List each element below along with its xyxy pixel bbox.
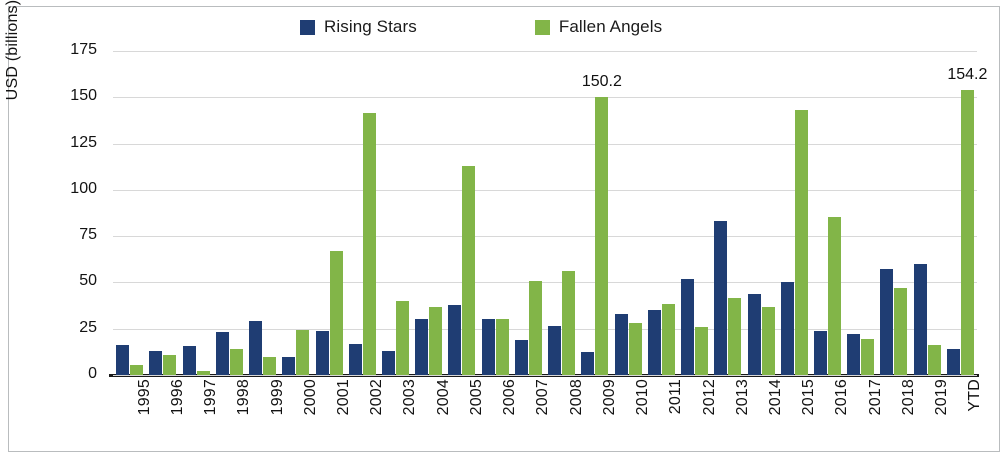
gridline-0 bbox=[113, 375, 977, 376]
bar-rising-stars-2006[interactable] bbox=[482, 319, 495, 375]
y-axis-title: USD (billions) bbox=[4, 0, 22, 140]
x-tick-label-1998: 1998 bbox=[235, 379, 253, 415]
bar-rising-stars-1995[interactable] bbox=[116, 345, 129, 375]
x-tick-label-1996: 1996 bbox=[169, 379, 187, 415]
bar-rising-stars-2012[interactable] bbox=[681, 279, 694, 375]
bar-group-1996 bbox=[149, 51, 176, 375]
bar-fallen-angels-2008[interactable] bbox=[562, 271, 575, 375]
bar-fallen-angels-1996[interactable] bbox=[163, 355, 176, 375]
bar-rising-stars-1997[interactable] bbox=[183, 346, 196, 375]
bar-group-1999 bbox=[249, 51, 276, 375]
x-tick-label-2016: 2016 bbox=[833, 379, 851, 415]
x-tick-label-2018: 2018 bbox=[900, 379, 918, 415]
x-axis-labels: 1995199619971998199920002001200220032004… bbox=[113, 379, 977, 449]
bar-rising-stars-2019[interactable] bbox=[914, 264, 927, 375]
bar-rising-stars-2017[interactable] bbox=[847, 334, 860, 375]
legend-item-rising-stars: Rising Stars bbox=[300, 17, 417, 37]
plot-area: 0255075100125150175150.2154.2 bbox=[113, 51, 977, 375]
bar-group-1995 bbox=[116, 51, 143, 375]
bar-fallen-angels-2013[interactable] bbox=[728, 298, 741, 375]
bar-fallen-angels-2002[interactable] bbox=[363, 113, 376, 375]
bar-group-2001 bbox=[316, 51, 343, 375]
x-tick-label-2003: 2003 bbox=[401, 379, 419, 415]
x-tick-label-2002: 2002 bbox=[368, 379, 386, 415]
y-tick-label-175: 175 bbox=[53, 41, 97, 59]
bar-rising-stars-2016[interactable] bbox=[814, 331, 827, 375]
x-tick-label-2007: 2007 bbox=[534, 379, 552, 415]
bar-fallen-angels-2010[interactable] bbox=[629, 323, 642, 375]
bar-rising-stars-2000[interactable] bbox=[282, 357, 295, 375]
x-tick-label-2017: 2017 bbox=[867, 379, 885, 415]
y-tick-label-75: 75 bbox=[53, 226, 97, 244]
bar-group-2013 bbox=[714, 51, 741, 375]
bar-fallen-angels-2017[interactable] bbox=[861, 339, 874, 375]
bar-group-2019 bbox=[914, 51, 941, 375]
bar-fallen-angels-2009[interactable] bbox=[595, 97, 608, 375]
y-tick-label-100: 100 bbox=[53, 180, 97, 198]
bar-rising-stars-2003[interactable] bbox=[382, 351, 395, 375]
bar-rising-stars-2008[interactable] bbox=[548, 326, 561, 375]
bar-value-label-2009: 150.2 bbox=[582, 73, 622, 91]
x-tick-label-2006: 2006 bbox=[501, 379, 519, 415]
bar-fallen-angels-1998[interactable] bbox=[230, 349, 243, 375]
square-swatch-icon-rising-stars bbox=[300, 20, 315, 35]
bar-fallen-angels-1999[interactable] bbox=[263, 357, 276, 376]
bar-group-2014 bbox=[748, 51, 775, 375]
x-tick-label-2004: 2004 bbox=[435, 379, 453, 415]
chart-legend: Rising Stars Fallen Angels bbox=[300, 14, 760, 40]
bar-rising-stars-2002[interactable] bbox=[349, 344, 362, 375]
x-tick-label-2005: 2005 bbox=[468, 379, 486, 415]
bar-group-YTD bbox=[947, 51, 974, 375]
bar-group-2004 bbox=[415, 51, 442, 375]
bar-rising-stars-2010[interactable] bbox=[615, 314, 628, 375]
bar-rising-stars-2005[interactable] bbox=[448, 305, 461, 375]
legend-label-fallen-angels: Fallen Angels bbox=[559, 17, 662, 37]
bar-group-2016 bbox=[814, 51, 841, 375]
bar-rising-stars-2013[interactable] bbox=[714, 221, 727, 375]
bar-fallen-angels-2018[interactable] bbox=[894, 288, 907, 375]
bar-rising-stars-2007[interactable] bbox=[515, 340, 528, 375]
x-tick-label-2012: 2012 bbox=[701, 379, 719, 415]
bar-value-label-YTD: 154.2 bbox=[947, 66, 987, 84]
bar-fallen-angels-2003[interactable] bbox=[396, 301, 409, 375]
y-tick-label-150: 150 bbox=[53, 87, 97, 105]
bar-group-2006 bbox=[482, 51, 509, 375]
bar-fallen-angels-2000[interactable] bbox=[296, 330, 309, 375]
bar-group-2002 bbox=[349, 51, 376, 375]
bar-group-2018 bbox=[880, 51, 907, 375]
bar-fallen-angels-2011[interactable] bbox=[662, 304, 675, 375]
bar-rising-stars-2018[interactable] bbox=[880, 269, 893, 375]
bar-rising-stars-2015[interactable] bbox=[781, 282, 794, 375]
x-tick-label-2011: 2011 bbox=[667, 379, 685, 414]
square-swatch-icon-fallen-angels bbox=[535, 20, 550, 35]
bar-rising-stars-2009[interactable] bbox=[581, 352, 594, 375]
y-tick-label-0: 0 bbox=[53, 365, 97, 383]
bar-fallen-angels-2016[interactable] bbox=[828, 217, 841, 375]
x-tick-label-2001: 2001 bbox=[335, 379, 353, 415]
x-tick-label-1995: 1995 bbox=[136, 379, 154, 415]
bar-group-2011 bbox=[648, 51, 675, 375]
x-tick-label-2000: 2000 bbox=[302, 379, 320, 415]
bar-rising-stars-2004[interactable] bbox=[415, 319, 428, 375]
bar-rising-stars-2014[interactable] bbox=[748, 294, 761, 375]
bar-fallen-angels-2005[interactable] bbox=[462, 166, 475, 375]
bar-rising-stars-1999[interactable] bbox=[249, 321, 262, 375]
bar-group-1998 bbox=[216, 51, 243, 375]
bar-fallen-angels-2019[interactable] bbox=[928, 345, 941, 375]
bar-group-2012 bbox=[681, 51, 708, 375]
bar-rising-stars-2011[interactable] bbox=[648, 310, 661, 375]
x-tick-label-2008: 2008 bbox=[568, 379, 586, 415]
bar-fallen-angels-2004[interactable] bbox=[429, 307, 442, 376]
x-tick-label-1997: 1997 bbox=[202, 379, 220, 415]
bar-fallen-angels-1997[interactable] bbox=[197, 371, 210, 375]
legend-item-fallen-angels: Fallen Angels bbox=[535, 17, 662, 37]
x-tick-label-YTD: YTD bbox=[966, 379, 984, 412]
x-tick-label-2015: 2015 bbox=[800, 379, 818, 415]
bar-fallen-angels-2006[interactable] bbox=[496, 319, 509, 375]
legend-label-rising-stars: Rising Stars bbox=[324, 17, 417, 37]
bar-fallen-angels-2001[interactable] bbox=[330, 251, 343, 375]
y-tick-label-50: 50 bbox=[53, 272, 97, 290]
x-tick-label-2019: 2019 bbox=[933, 379, 951, 415]
bar-fallen-angels-2014[interactable] bbox=[762, 307, 775, 375]
y-tick-label-25: 25 bbox=[53, 319, 97, 337]
bar-group-2003 bbox=[382, 51, 409, 375]
bar-group-2008 bbox=[548, 51, 575, 375]
bar-group-2015 bbox=[781, 51, 808, 375]
x-tick-label-2013: 2013 bbox=[734, 379, 752, 415]
bar-group-1997 bbox=[183, 51, 210, 375]
chart-container: Rising Stars Fallen Angels USD (billions… bbox=[0, 0, 1008, 462]
y-tick-label-125: 125 bbox=[53, 134, 97, 152]
bar-rising-stars-YTD[interactable] bbox=[947, 349, 960, 375]
x-tick-label-2009: 2009 bbox=[601, 379, 619, 415]
bar-fallen-angels-2007[interactable] bbox=[529, 281, 542, 375]
bar-fallen-angels-1995[interactable] bbox=[130, 365, 143, 375]
bar-group-2017 bbox=[847, 51, 874, 375]
bar-group-2000 bbox=[282, 51, 309, 375]
bar-group-2005 bbox=[448, 51, 475, 375]
bar-rising-stars-2001[interactable] bbox=[316, 331, 329, 375]
bar-fallen-angels-YTD[interactable] bbox=[961, 90, 974, 375]
bar-fallen-angels-2015[interactable] bbox=[795, 110, 808, 375]
bar-group-2009 bbox=[581, 51, 608, 375]
bar-fallen-angels-2012[interactable] bbox=[695, 327, 708, 375]
x-tick-label-1999: 1999 bbox=[269, 379, 287, 415]
bar-rising-stars-1998[interactable] bbox=[216, 332, 229, 376]
bar-rising-stars-1996[interactable] bbox=[149, 351, 162, 375]
x-tick-label-2014: 2014 bbox=[767, 379, 785, 415]
bar-group-2010 bbox=[615, 51, 642, 375]
x-tick-label-2010: 2010 bbox=[634, 379, 652, 415]
bar-group-2007 bbox=[515, 51, 542, 375]
